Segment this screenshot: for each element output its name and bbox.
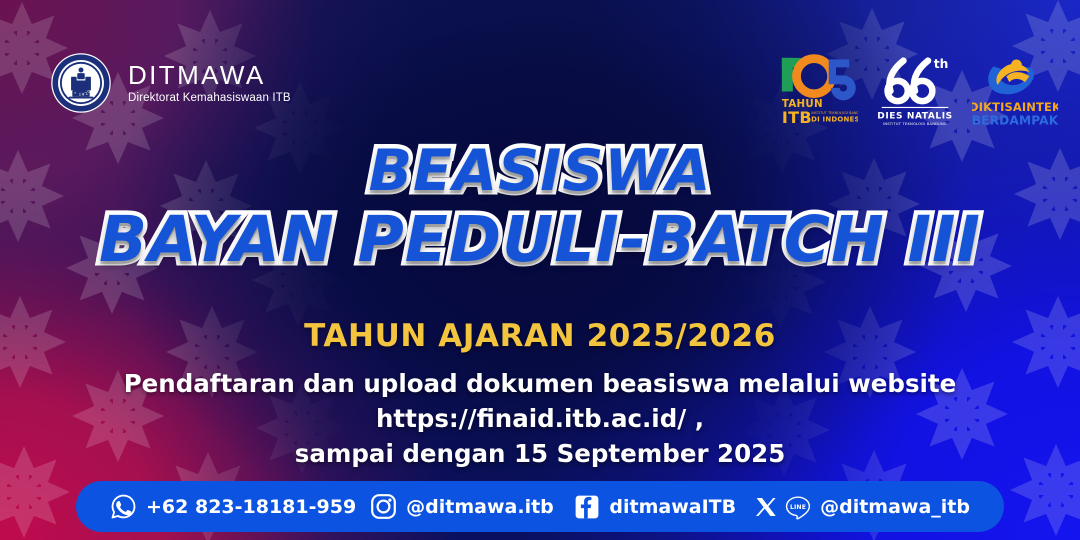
instagram-icon bbox=[370, 493, 397, 520]
contact-instagram-label: @ditmawa.itb bbox=[406, 496, 554, 518]
instruction-line-2: https://finaid.itb.ac.id/ , bbox=[0, 401, 1080, 436]
academic-year-label: TAHUN AJARAN 2025/2026 bbox=[0, 318, 1080, 354]
partner-logos: TAHUN ITB DI INDONESIA INSTITUT TEKNOLOG… bbox=[776, 52, 1058, 131]
svg-text:ITB: ITB bbox=[782, 108, 812, 127]
contact-whatsapp[interactable]: +62 823-18181-959 bbox=[110, 493, 356, 520]
svg-text:LINE: LINE bbox=[790, 504, 806, 511]
ditmawa-branding: ITB INSTITUT TEKNOLOGI BANDUNG • 1920 • … bbox=[50, 52, 291, 114]
itb-seal-icon: ITB INSTITUT TEKNOLOGI BANDUNG • 1920 • bbox=[50, 52, 112, 114]
svg-text:th: th bbox=[934, 57, 949, 71]
contact-bar: +62 823-18181-959 @ditmawa.itb bbox=[76, 481, 1004, 532]
brand-subtitle: Direktorat Kemahasiswaan ITB bbox=[128, 93, 291, 105]
line-icon: LINE bbox=[785, 494, 811, 520]
whatsapp-icon bbox=[110, 493, 137, 520]
svg-text:INSTITUT TEKNOLOGI BANDUNG: INSTITUT TEKNOLOGI BANDUNG bbox=[883, 122, 947, 126]
diktisaintek-figure-icon: DIKTISAINTEK BERDAMPAK bbox=[972, 52, 1058, 129]
svg-text:BERDAMPAK: BERDAMPAK bbox=[972, 113, 1058, 127]
headline-line-2: BAYAN PEDULI-BATCH III bbox=[0, 204, 1080, 276]
brand-name: DITMAWA bbox=[128, 62, 291, 88]
svg-text:ITB: ITB bbox=[77, 80, 85, 86]
instruction-text: Pendaftaran dan upload dokumen beasiswa … bbox=[0, 366, 1080, 471]
svg-text:DIES NATALIS: DIES NATALIS bbox=[877, 111, 952, 121]
headline: BEASISWA BAYAN PEDULI-BATCH III bbox=[0, 140, 1080, 276]
svg-text:INSTITUT TEKNOLOGI BANDUNG: INSTITUT TEKNOLOGI BANDUNG bbox=[811, 111, 858, 115]
contact-x-line-label: @ditmawa_itb bbox=[820, 496, 970, 518]
svg-text:DIKTISAINTEK: DIKTISAINTEK bbox=[972, 100, 1058, 114]
x-icon bbox=[754, 495, 778, 519]
contact-instagram[interactable]: @ditmawa.itb bbox=[370, 493, 554, 520]
contact-facebook[interactable]: ditmawaITB bbox=[574, 494, 736, 520]
instruction-line-1: Pendaftaran dan upload dokumen beasiswa … bbox=[0, 366, 1080, 401]
instruction-line-3: sampai dengan 15 September 2025 bbox=[0, 436, 1080, 471]
promotional-banner: ITB INSTITUT TEKNOLOGI BANDUNG • 1920 • … bbox=[0, 0, 1080, 540]
headline-line-1: BEASISWA bbox=[0, 140, 1080, 202]
contact-x-line[interactable]: LINE @ditmawa_itb bbox=[754, 494, 970, 520]
contact-facebook-label: ditmawaITB bbox=[609, 496, 736, 518]
facebook-icon bbox=[574, 494, 600, 520]
anniversary-105-icon: TAHUN ITB DI INDONESIA INSTITUT TEKNOLOG… bbox=[776, 52, 858, 131]
contact-whatsapp-label: +62 823-18181-959 bbox=[146, 496, 356, 518]
svg-text:DI INDONESIA: DI INDONESIA bbox=[811, 116, 858, 124]
dies-natalis-66-icon: th DIES NATALIS INSTITUT TEKNOLOGI BANDU… bbox=[876, 52, 954, 130]
